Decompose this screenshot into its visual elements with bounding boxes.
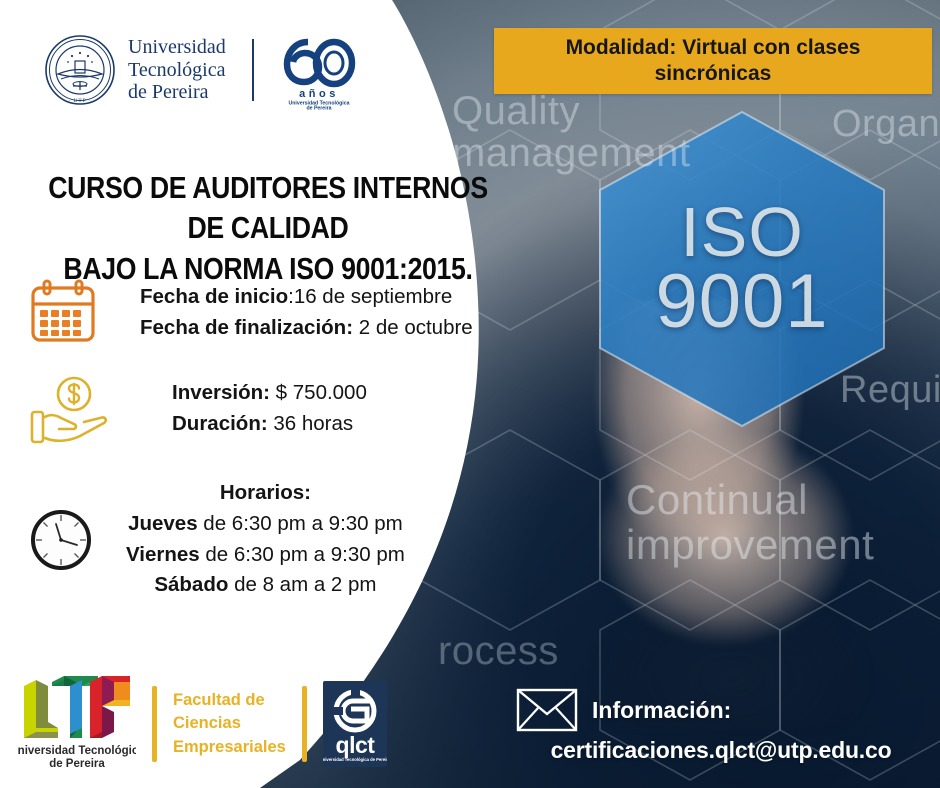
end-date-value: 2 de octubre [353,316,473,339]
price-label: Inversión: [172,381,270,404]
end-date-line: Fecha de finalización: 2 de octubre [140,313,473,344]
poster-root: ISO 9001 Quality management Organiz Requ… [0,0,940,788]
svg-text:de Pereira: de Pereira [49,758,105,770]
start-date-line: Fecha de inicio:16 de septiembre [140,282,473,313]
schedule-time-3: de 8 am a 2 pm [228,573,376,596]
header-logos: · UTP · Universidad Tecnológica de Perei… [44,30,362,110]
duration-value: 36 horas [268,412,353,435]
schedule-time-1: de 6:30 pm a 9:30 pm [198,512,403,535]
svg-text:Universidad Tecnológica de Per: Universidad Tecnológica de Pereira [323,757,387,762]
contact-email[interactable]: certificaciones.qlct@utp.edu.co [516,737,926,764]
dates-row: Fecha de inicio:16 de septiembre Fecha d… [28,278,548,348]
price-line: Inversión: $ 750.000 [172,378,367,409]
schedule-heading: Horarios: [126,478,405,509]
price-value: $ 750.000 [270,381,367,404]
schedule-line-3: Sábado de 8 am a 2 pm [126,570,405,601]
footer-divider-right [302,686,307,762]
schedule-day-1: Jueves [128,512,198,535]
hand-coin-icon [28,372,114,446]
utp-seal-icon: · UTP · [44,34,116,106]
investment-text: Inversión: $ 750.000 Duración: 36 horas [150,378,367,440]
svg-text:· UTP ·: · UTP · [68,98,91,104]
svg-text:años: años [299,88,339,100]
header-divider [252,39,254,101]
start-date-value: 16 de septiembre [294,285,452,308]
envelope-icon [516,688,578,732]
schedule-line-2: Viernes de 6:30 pm a 9:30 pm [126,540,405,571]
clock-icon [28,507,94,573]
schedule-day-3: Sábado [154,573,228,596]
svg-text:qlct: qlct [335,732,375,758]
modality-banner: Modalidad: Virtual con clases sincrónica… [494,28,932,94]
start-date-label: Fecha de inicio [140,285,288,308]
schedule-time-2: de 6:30 pm a 9:30 pm [200,543,405,566]
schedule-day-2: Viernes [126,543,200,566]
faculty-name: Facultad de Ciencias Empresariales [173,689,286,759]
svg-text:Universidad Tecnológica: Universidad Tecnológica [18,745,136,757]
schedule-line-1: Jueves de 6:30 pm a 9:30 pm [126,509,405,540]
anniversary-60-logo: años Universidad Tecnológica de Pereira [276,30,362,110]
end-date-label: Fecha de finalización: [140,316,353,339]
schedule-row: Horarios: Jueves de 6:30 pm a 9:30 pm Vi… [28,478,548,601]
duration-line: Duración: 36 horas [172,409,367,440]
university-name: Universidad Tecnológica de Pereira [128,36,226,104]
dates-text: Fecha de inicio:16 de septiembre Fecha d… [140,282,473,344]
modality-banner-text: Modalidad: Virtual con clases sincrónica… [494,35,932,86]
footer-logos: Universidad Tecnológica de Pereira Facul… [18,676,387,772]
contact-label: Información: [592,697,731,724]
calendar-icon [28,278,98,348]
svg-text:de Pereira: de Pereira [306,106,331,111]
course-title: CURSO DE AUDITORES INTERNOS DE CALIDAD B… [44,168,491,289]
duration-label: Duración: [172,412,268,435]
qlct-logo: qlct Universidad Tecnológica de Pereira [323,681,387,767]
footer-divider-left [152,686,157,762]
contact-top-row: Información: [516,688,926,732]
contact-block: Información: certificaciones.qlct@utp.ed… [516,688,926,764]
investment-row: Inversión: $ 750.000 Duración: 36 horas [28,372,548,446]
utp-wordmark-logo: Universidad Tecnológica de Pereira [18,676,136,772]
course-title-line-1: CURSO DE AUDITORES INTERNOS DE CALIDAD [44,168,491,249]
schedule-text: Horarios: Jueves de 6:30 pm a 9:30 pm Vi… [126,478,405,601]
